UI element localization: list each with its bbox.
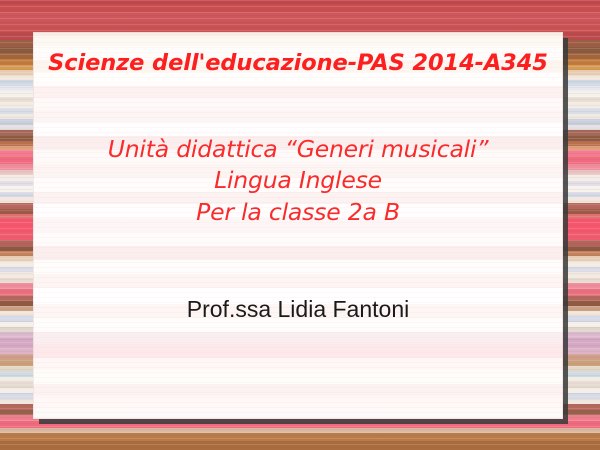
slide-text-stack: Scienze dell'educazione-PAS 2014-A345 Un… <box>33 32 563 419</box>
slide-subtitle: Unità didattica “Generi musicali” Lingua… <box>47 134 549 228</box>
slide-author: Prof.ssa Lidia Fantoni <box>47 295 549 324</box>
content-card: Scienze dell'educazione-PAS 2014-A345 Un… <box>33 32 563 419</box>
presentation-slide: Scienze dell'educazione-PAS 2014-A345 Un… <box>0 0 600 450</box>
subtitle-line-2: Lingua Inglese <box>47 165 549 196</box>
subtitle-line-1: Unità didattica “Generi musicali” <box>47 134 549 165</box>
subtitle-line-3: Per la classe 2a B <box>47 197 549 228</box>
slide-title: Scienze dell'educazione-PAS 2014-A345 <box>47 49 549 79</box>
